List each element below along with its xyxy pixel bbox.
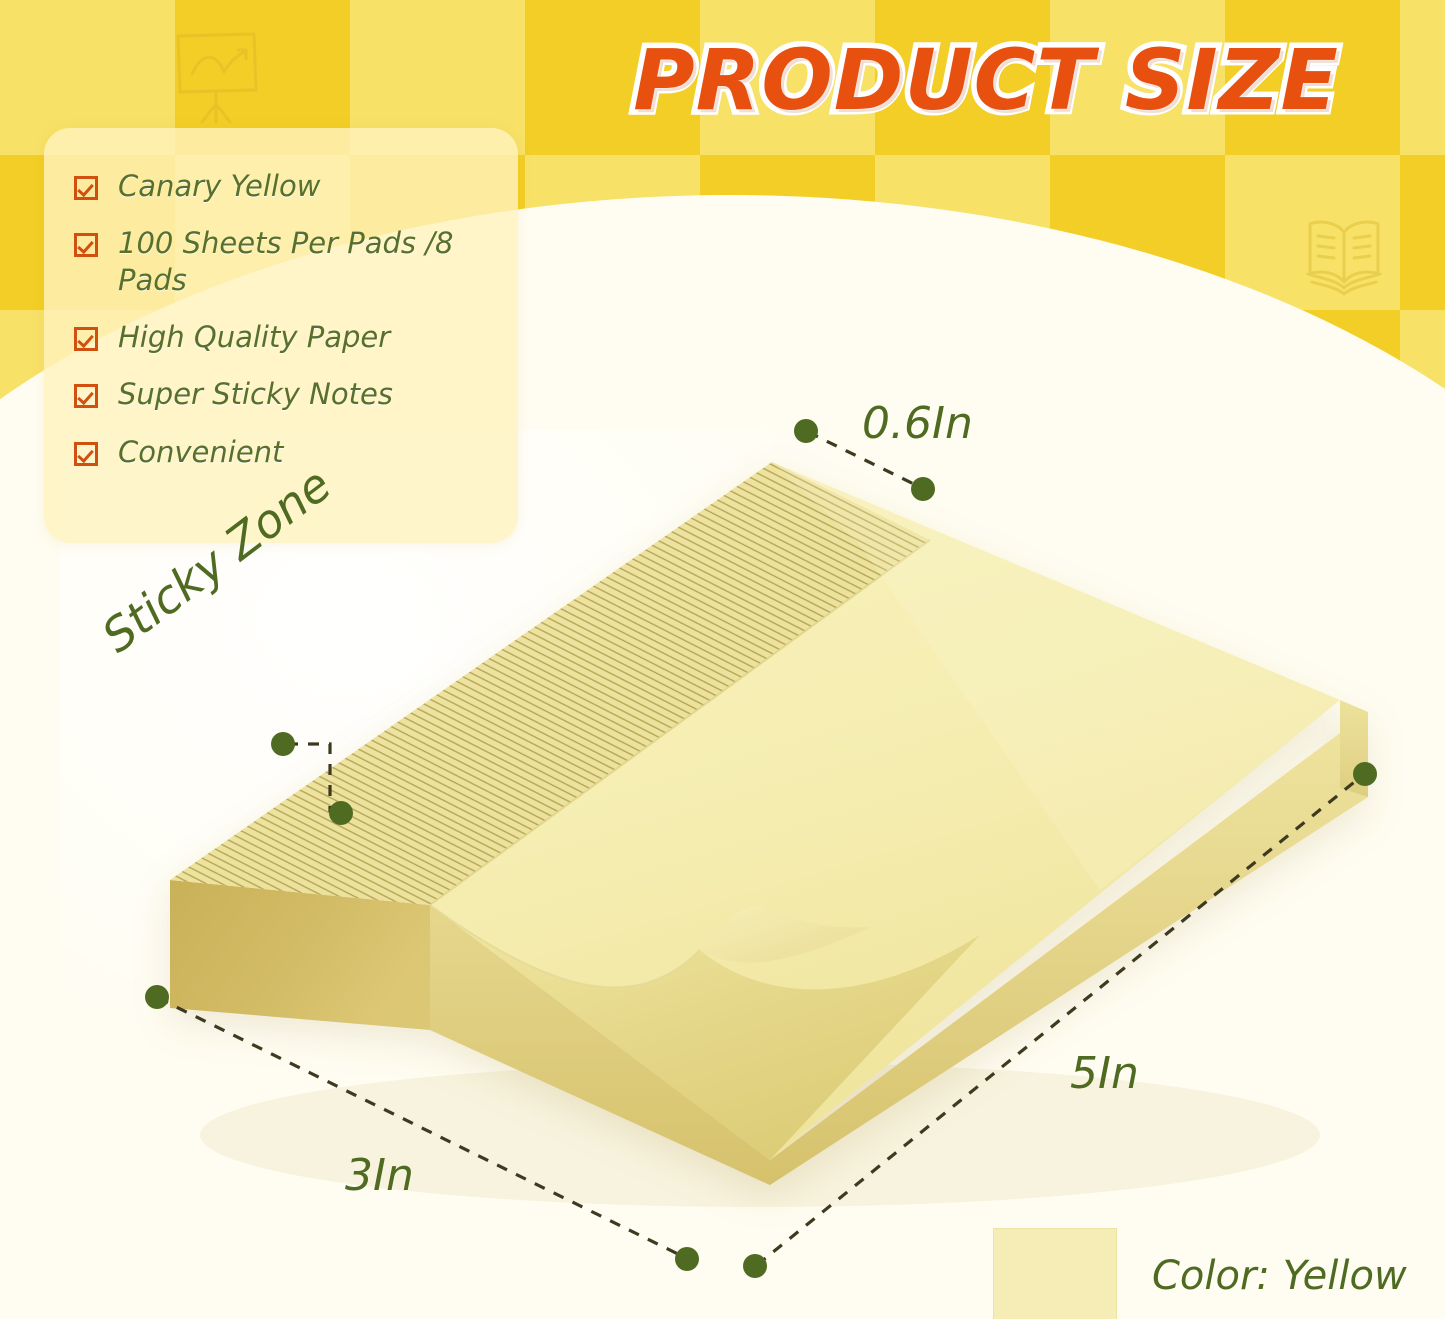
checkbox-checked-icon <box>74 327 98 351</box>
presentation-board-icon <box>168 22 264 130</box>
list-item: Canary Yellow <box>74 168 490 205</box>
list-item: Super Sticky Notes <box>74 376 490 413</box>
checkbox-checked-icon <box>74 176 98 200</box>
color-swatch <box>993 1228 1117 1319</box>
open-book-icon <box>1298 212 1390 302</box>
color-swatch-label: Color: Yellow <box>1152 1253 1407 1299</box>
dimension-label-width: 3In <box>345 1150 414 1201</box>
product-size-infographic: PRODUCT SIZE Canary Yellow 100 Sheets Pe… <box>0 0 1445 1319</box>
feature-label: Canary Yellow <box>118 168 320 205</box>
list-item: High Quality Paper <box>74 319 490 356</box>
feature-label: High Quality Paper <box>118 319 390 356</box>
dimension-label-length: 5In <box>1070 1048 1139 1099</box>
dimension-label-thickness: 0.6In <box>862 398 973 449</box>
feature-label: 100 Sheets Per Pads /8 Pads <box>118 225 490 299</box>
page-title: PRODUCT SIZE <box>556 36 1416 125</box>
checkbox-checked-icon <box>74 384 98 408</box>
list-item: Convenient <box>74 434 490 471</box>
feature-label: Super Sticky Notes <box>118 376 393 413</box>
feature-label: Convenient <box>118 434 283 471</box>
checkbox-checked-icon <box>74 233 98 257</box>
checkbox-checked-icon <box>74 442 98 466</box>
feature-list: Canary Yellow 100 Sheets Per Pads /8 Pad… <box>74 168 490 471</box>
list-item: 100 Sheets Per Pads /8 Pads <box>74 225 490 299</box>
